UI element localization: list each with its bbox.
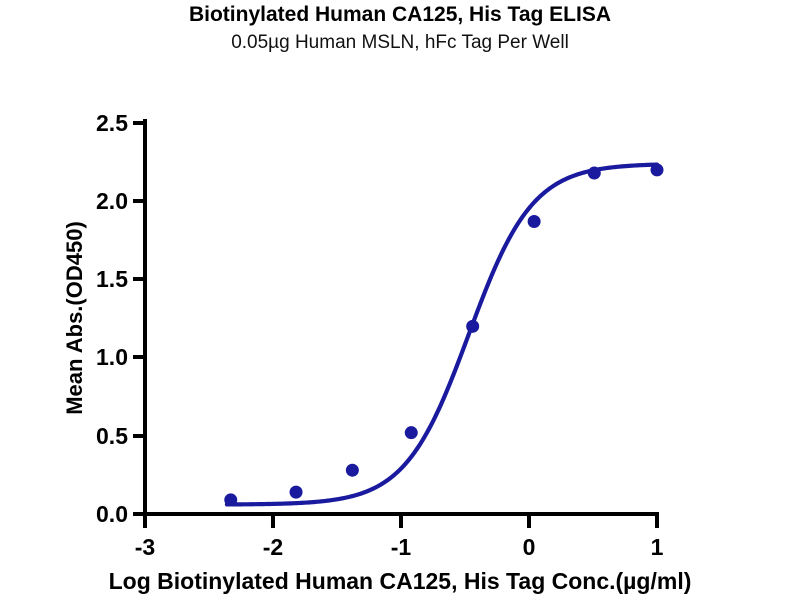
x-tick-label-0: 0 <box>523 534 536 560</box>
data-point <box>651 163 664 176</box>
y-tick-label-0-0: 0.0 <box>96 501 128 527</box>
data-point <box>466 320 479 333</box>
data-point <box>588 167 601 180</box>
data-point-group <box>224 163 663 506</box>
elisa-chart-figure: Biotinylated Human CA125, His Tag ELISA … <box>0 0 800 600</box>
data-point <box>224 493 237 506</box>
data-point <box>346 464 359 477</box>
data-point <box>290 486 303 499</box>
x-tick-label-1: 1 <box>651 534 664 560</box>
y-tick-label-1-5: 1.5 <box>96 266 128 292</box>
fit-curve <box>227 165 657 505</box>
y-axis-title: Mean Abs.(OD450) <box>62 221 87 415</box>
x-axis-ticks <box>145 514 657 528</box>
y-tick-label-2-0: 2.0 <box>96 188 128 214</box>
plot-area: 2.5 2.0 1.5 1.0 0.5 0.0 -3 -2 -1 0 1 Mea… <box>0 0 800 600</box>
x-tick-label-neg3: -3 <box>135 534 155 560</box>
data-point <box>528 215 541 228</box>
y-tick-label-2-5: 2.5 <box>96 110 128 136</box>
x-tick-label-neg1: -1 <box>391 534 412 560</box>
x-axis-title: Log Biotinylated Human CA125, His Tag Co… <box>109 568 692 594</box>
x-tick-label-neg2: -2 <box>263 534 283 560</box>
y-tick-label-0-5: 0.5 <box>96 423 128 449</box>
y-tick-label-1-0: 1.0 <box>96 344 128 370</box>
data-point <box>405 426 418 439</box>
